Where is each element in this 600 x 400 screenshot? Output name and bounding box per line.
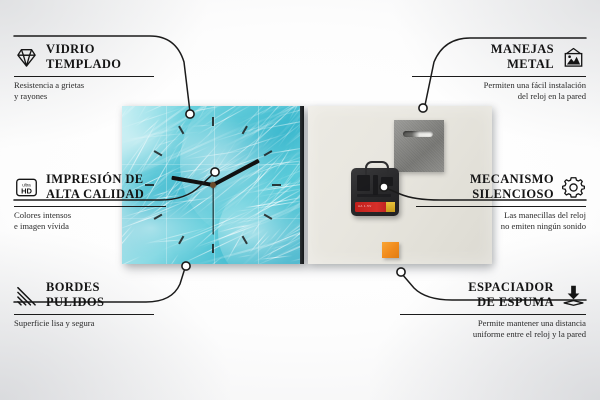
hanger-keyhole-slot	[403, 131, 433, 137]
polished-edges-icon	[14, 283, 39, 308]
feature-manejas-metal: MANEJAS METAL Permiten una fácil instala…	[412, 42, 586, 103]
feature-description: Superficie lisa y segura	[14, 318, 164, 330]
svg-text:HD: HD	[21, 186, 32, 195]
hour-tick	[242, 236, 248, 245]
feature-description: Las manecillas del reloj no emiten ningú…	[416, 210, 586, 233]
feature-espaciador-espuma: ESPACIADOR DE ESPUMA Permite mantener un…	[400, 280, 586, 341]
hand-hub	[210, 182, 216, 188]
feature-divider	[416, 206, 586, 207]
hour-tick	[264, 150, 273, 156]
feature-title: MECANISMO SILENCIOSO	[470, 172, 554, 203]
panel-right-edge	[300, 106, 304, 264]
feature-impresion-alta-calidad: ultra HD IMPRESIÓN DE ALTA CALIDAD Color…	[14, 172, 174, 233]
foam-spacer	[382, 242, 399, 258]
hour-tick	[242, 126, 248, 135]
gear-icon	[561, 175, 586, 200]
ultra-hd-icon: ultra HD	[14, 175, 39, 200]
feature-vidrio-templado: VIDRIO TEMPLADO Resistencia a grietas y …	[14, 42, 164, 103]
feature-description: Resistencia a grietas y rayones	[14, 80, 164, 103]
wall-hanger-icon	[561, 45, 586, 70]
feature-bordes-pulidos: BORDES PULIDOS Superficie lisa y segura	[14, 280, 164, 329]
feature-divider	[412, 76, 586, 77]
hour-tick	[264, 214, 273, 220]
feature-title: IMPRESIÓN DE ALTA CALIDAD	[46, 172, 144, 203]
feature-title: ESPACIADOR DE ESPUMA	[468, 280, 554, 311]
hour-tick	[178, 236, 184, 245]
feature-description: Permiten una fácil instalación del reloj…	[412, 80, 586, 103]
feature-divider	[400, 314, 586, 315]
feature-description: Permite mantener una distancia uniforme …	[400, 318, 586, 341]
feature-title: BORDES PULIDOS	[46, 280, 104, 311]
feature-divider	[14, 314, 154, 315]
feature-title: MANEJAS METAL	[491, 42, 554, 73]
feature-divider	[14, 76, 154, 77]
diamond-icon	[14, 45, 39, 70]
second-hand	[212, 185, 213, 235]
hour-tick	[272, 184, 281, 186]
battery: AA 1.5V	[355, 202, 395, 212]
mechanism-hanging-loop	[365, 161, 389, 175]
feature-divider	[14, 206, 166, 207]
hour-tick	[178, 126, 184, 135]
minute-hand	[212, 159, 260, 187]
metal-hanger-plate	[394, 120, 444, 172]
feature-title: VIDRIO TEMPLADO	[46, 42, 121, 73]
hour-hand	[171, 176, 213, 187]
feature-description: Colores intensos e imagen vívida	[14, 210, 174, 233]
infographic-canvas: AA 1.5V	[0, 0, 600, 400]
foam-spacer-icon	[561, 283, 586, 308]
hour-tick	[212, 244, 214, 253]
hour-tick	[212, 117, 214, 126]
hour-tick	[154, 150, 163, 156]
clock-mechanism: AA 1.5V	[351, 168, 399, 216]
feature-mecanismo-silencioso: MECANISMO SILENCIOSO Las manecillas del …	[416, 172, 586, 233]
